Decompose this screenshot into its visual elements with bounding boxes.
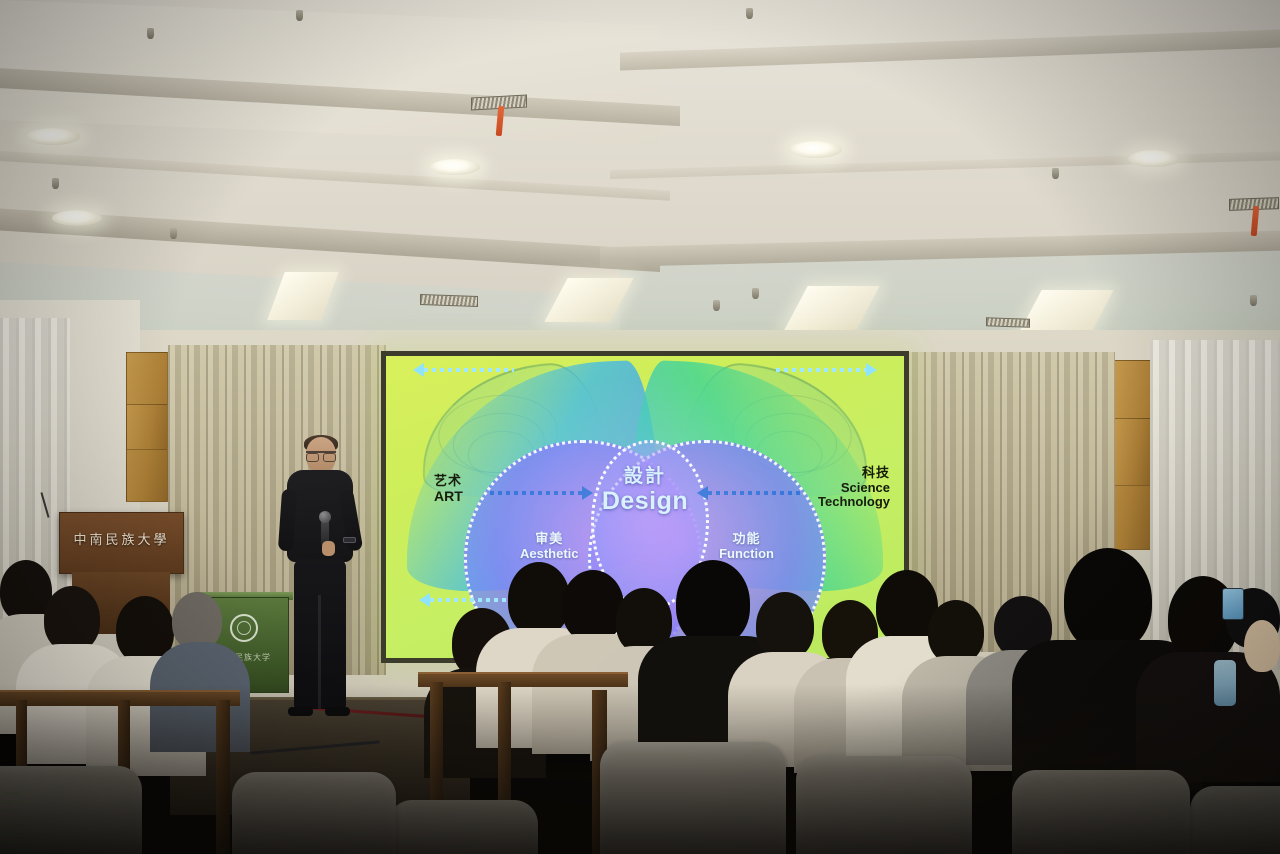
arrow-art-to-center: [490, 491, 582, 495]
arrow-top-left-head-icon: [413, 363, 424, 377]
sprinkler-head: [752, 288, 759, 299]
sprinkler-head: [1250, 295, 1257, 306]
audience-phone-icon: [1222, 588, 1244, 620]
sprinkler-head: [1052, 168, 1059, 179]
slide-label-design-cn: 設計: [602, 466, 688, 487]
sprinkler-head: [170, 228, 177, 239]
sprinkler-head: [296, 10, 303, 21]
audience-head: [1244, 620, 1280, 672]
ceiling-beam: [610, 150, 1280, 179]
auditorium-seat: [232, 772, 396, 854]
slide-label-function: 功能 Function: [719, 532, 774, 561]
arrow-top-right-line: [776, 368, 866, 372]
presenter-glasses-icon: [306, 451, 336, 458]
slide-label-aesthetic-en: Aesthetic: [520, 547, 579, 562]
wall-wood-panel: [126, 404, 168, 450]
auditorium-seat: [388, 800, 538, 854]
audience-head: [44, 586, 100, 652]
presenter-shoe: [325, 707, 350, 716]
audience-desk: [418, 672, 628, 687]
sprinkler-head: [713, 300, 720, 311]
audience-head: [508, 562, 570, 636]
ceiling-beam: [0, 149, 670, 201]
slide-label-function-en: Function: [719, 547, 774, 562]
ceiling-downlight: [1128, 150, 1180, 167]
arrow-bottom-left-head-icon: [419, 593, 430, 607]
ceiling-downlight: [52, 210, 102, 226]
audience-desk-leg: [216, 700, 230, 854]
presenter-shoe: [288, 707, 313, 716]
sprinkler-head: [52, 178, 59, 189]
ceiling-downlight: [790, 141, 842, 158]
ceiling-air-vent: [420, 294, 478, 307]
wall-wood-panel: [1112, 418, 1152, 486]
audience-water-bottle: [1214, 660, 1236, 706]
sprinkler-head: [147, 28, 154, 39]
auditorium-seat: [796, 756, 972, 854]
arrow-bottom-left-line: [430, 598, 516, 602]
slide-label-aesthetic-cn: 审美: [520, 532, 579, 547]
ceiling-air-vent: [986, 317, 1030, 328]
audience-head-with-cap: [562, 570, 624, 642]
arrow-technology-to-center: [708, 491, 800, 495]
slide-label-function-cn: 功能: [719, 532, 774, 547]
slide-label-design-en: Design: [602, 487, 688, 515]
presenter-hand: [322, 541, 335, 556]
lecture-hall-photo: 艺术 ART 科技 Science Technology 审美 Aestheti…: [0, 0, 1280, 854]
auditorium-seat: [1012, 770, 1190, 854]
ceiling-downlight: [430, 159, 480, 175]
ceiling-downlight: [26, 128, 80, 145]
presenter-wristwatch: [343, 537, 356, 543]
venue-name-podium: 中南民族大學: [59, 512, 184, 574]
slide-label-art-en: ART: [434, 489, 463, 505]
seat-back-marking: [4, 792, 22, 854]
slide-label-art-cn: 艺术: [434, 474, 463, 489]
presenter: [276, 437, 362, 717]
auditorium-seat: [1190, 786, 1280, 854]
arrow-art-head-icon: [582, 486, 593, 500]
university-emblem-icon: [230, 614, 258, 642]
audience-head: [1064, 548, 1152, 652]
ceiling-beam: [620, 27, 1280, 70]
audience-head: [676, 560, 750, 646]
audience-head: [756, 592, 814, 660]
arrow-top-right-head-icon: [866, 363, 877, 377]
arrow-top-left-line: [424, 368, 514, 372]
slide-label-technology: 科技 Science Technology: [818, 466, 890, 510]
slide-label-technology-cn: 科技: [818, 466, 890, 481]
arrow-technology-head-icon: [697, 486, 708, 500]
slide-label-art: 艺术 ART: [434, 474, 463, 504]
slide-label-design: 設計 Design: [602, 466, 688, 515]
slide-label-technology-en2: Technology: [818, 495, 890, 510]
sprinkler-head: [746, 8, 753, 19]
audience-head: [928, 600, 984, 664]
slide-label-technology-en: Science: [818, 481, 890, 496]
slide-label-aesthetic: 审美 Aesthetic: [520, 532, 579, 561]
ceiling: [0, 0, 1280, 360]
presenter-legs: [294, 559, 346, 709]
auditorium-seat: [600, 742, 786, 854]
venue-name-text: 中南民族大學: [60, 529, 183, 548]
